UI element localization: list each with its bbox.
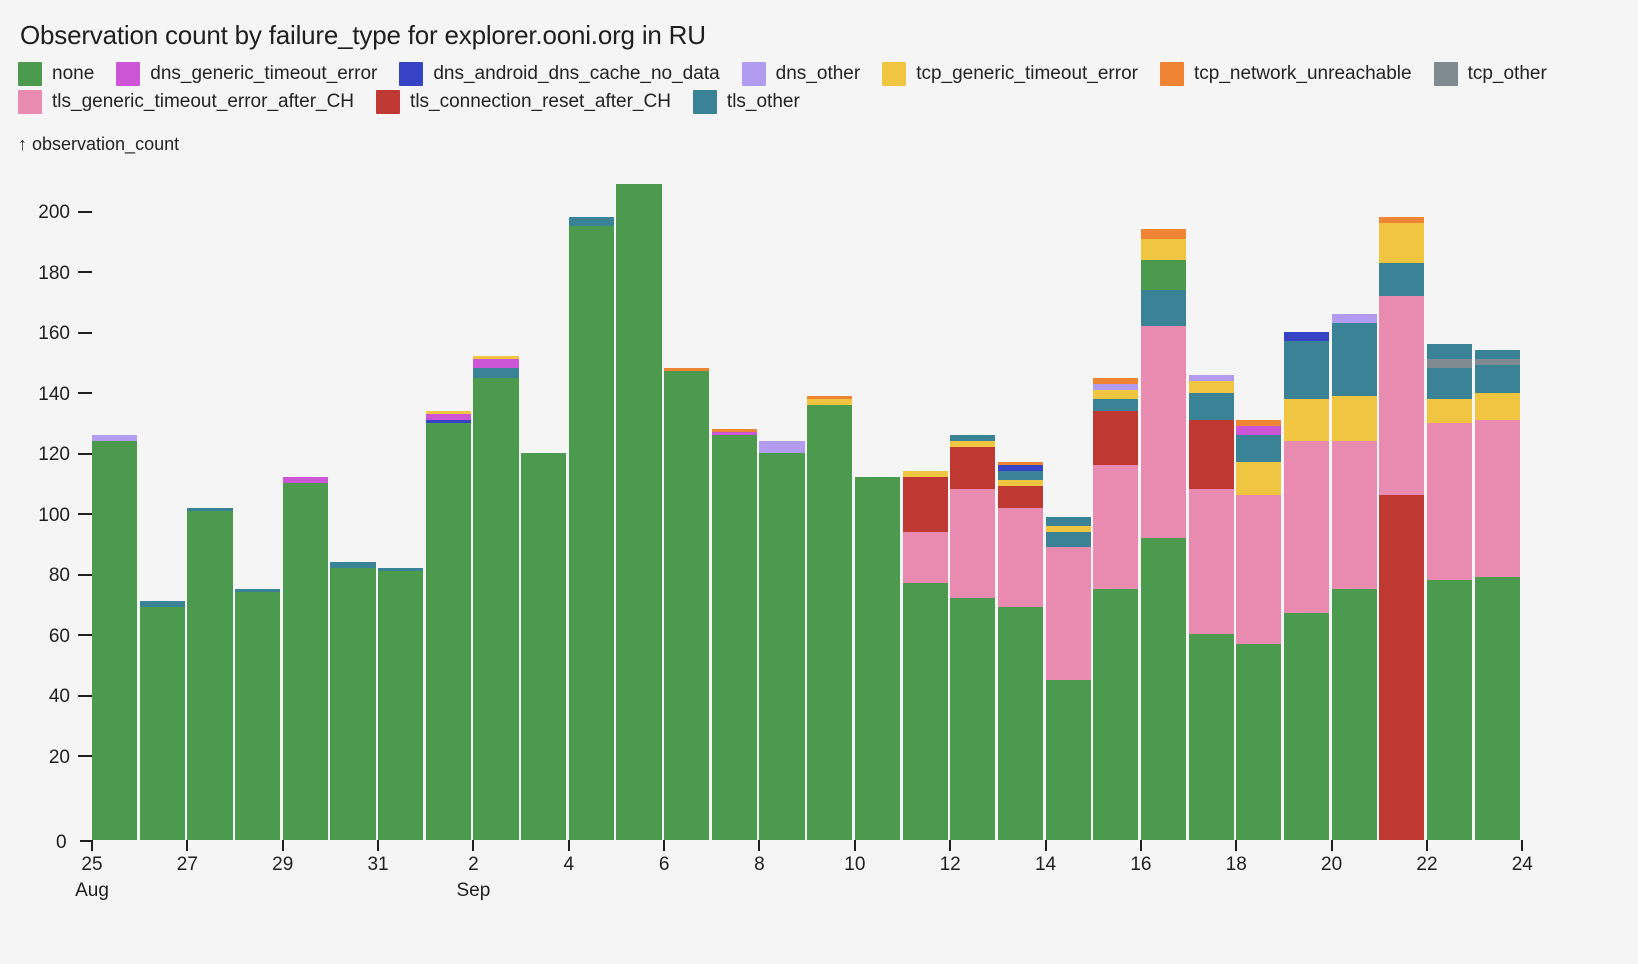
bar-segment-tls_other[interactable] [1332,356,1377,395]
bar-segment-tls_other[interactable] [1189,393,1234,420]
chart-legend: nonedns_generic_timeout_errordns_android… [18,60,1628,116]
bar-segment-tcp_generic_timeout_error[interactable] [1284,399,1329,441]
x-tick-label-24: 24 [1512,854,1533,876]
chart-root: Observation count by failure_type for ex… [0,0,1638,964]
bar-segment-tls_other[interactable] [1093,399,1138,411]
bar-segment-tls_generic_timeout_error_after_CH[interactable] [1093,465,1138,589]
y-tick-label: 80 [49,565,78,587]
bar-segment-none[interactable] [1332,589,1377,840]
legend-swatch-icon [882,62,906,86]
bar-sep-19[interactable] [1284,332,1329,840]
x-tick-month-Sep: Sep [457,880,491,902]
x-tick-mark [854,840,856,851]
y-tick-40: 40 [49,686,92,708]
y-tick-label: 40 [49,686,78,708]
legend-item-dns_generic_timeout_error[interactable]: dns_generic_timeout_error [116,60,377,88]
bar-aug-27[interactable] [187,508,232,840]
bar-sep-11[interactable] [903,471,948,840]
bar-segment-none[interactable] [1046,680,1091,840]
bar-segment-tcp_generic_timeout_error[interactable] [1093,390,1138,399]
y-tick-label: 60 [49,626,78,648]
bar-segment-tls_connection_reset_after_CH[interactable] [1093,411,1138,465]
bar-segment-tls_other_top[interactable] [1427,344,1472,359]
bar-segment-none[interactable] [1236,644,1281,840]
bar-segment-tls_other_top[interactable] [1046,517,1091,526]
x-tick-label-12: 12 [940,854,961,876]
legend-item-tls_connection_reset_after_CH[interactable]: tls_connection_reset_after_CH [376,88,671,116]
bar-segment-tls_generic_timeout_error_after_CH[interactable] [1332,441,1377,589]
bar-segment-tls_generic_timeout_error_after_CH[interactable] [903,532,948,583]
y-tick-mark [78,271,92,273]
x-tick-label-8: 8 [754,854,765,876]
y-tick-mark [78,211,92,213]
legend-item-tcp_network_unreachable[interactable]: tcp_network_unreachable [1160,60,1412,88]
y-tick-mark [78,574,92,576]
bar-segment-dns_generic_timeout_error[interactable] [1236,426,1281,435]
bar-aug-30[interactable] [330,562,375,840]
bar-sep-3[interactable] [521,453,566,840]
bar-sep-12[interactable] [950,435,995,840]
x-tick-label-16: 16 [1130,854,1151,876]
y-tick-80: 80 [49,565,92,587]
bar-sep-6[interactable] [664,368,709,840]
bar-segment-tls_generic_timeout_error_after_CH[interactable] [998,508,1043,608]
x-tick-label-4: 4 [563,854,574,876]
legend-item-dns_android_dns_cache_no_data[interactable]: dns_android_dns_cache_no_data [399,60,719,88]
bar-segment-none[interactable] [426,423,471,840]
legend-swatch-icon [18,62,42,86]
bar-segment-tls_generic_timeout_error_after_CH[interactable] [1475,420,1520,577]
bar-sep-9[interactable] [807,396,852,840]
legend-swatch-icon [399,62,423,86]
bar-segment-tls_other[interactable] [1236,435,1281,462]
x-tick-mark [1140,840,1142,851]
x-tick-label-14: 14 [1035,854,1056,876]
x-tick-label-25: 25 [81,854,102,876]
bar-segment-tls_generic_timeout_error_after_CH[interactable] [1141,326,1186,538]
y-tick-100: 100 [38,505,92,527]
y-tick-mark [78,453,92,455]
bar-segment-none[interactable] [712,435,757,840]
bar-segment-tls_other[interactable] [998,471,1043,480]
bar-segment-none[interactable] [283,483,328,840]
x-tick-mark [1331,840,1333,851]
x-tick-label-2: 2 [468,854,479,876]
bar-sep-20[interactable] [1332,314,1377,840]
y-tick-mark [78,634,92,636]
y-tick-200: 200 [38,202,92,224]
chart-title: Observation count by failure_type for ex… [20,20,706,51]
bar-segment-none[interactable] [616,184,661,840]
bar-sep-2[interactable] [473,356,518,840]
bar-segment-tls_other[interactable] [1046,532,1091,547]
bar-sep-22[interactable] [1427,344,1472,840]
bar-segment-none[interactable] [569,226,614,840]
bar-segment-tls_other[interactable] [1427,368,1472,398]
bar-segment-tcp_other[interactable] [1427,359,1472,368]
legend-item-tls_other[interactable]: tls_other [693,88,800,116]
bar-segment-tls_connection_reset_after_CH[interactable] [1189,420,1234,490]
bar-sep-5[interactable] [616,184,661,840]
bar-aug-25[interactable] [92,435,137,840]
y-tick-mark [78,513,92,515]
x-tick-label-18: 18 [1226,854,1247,876]
y-tick-label: 200 [38,202,78,224]
bar-segment-tcp_generic_timeout_error[interactable] [1427,399,1472,423]
y-tick-zero-label: 0 [56,832,67,854]
bar-segment-none[interactable] [664,371,709,840]
bar-segment-tls_other[interactable] [473,368,518,377]
y-tick-mark [78,695,92,697]
bar-segment-tcp_generic_timeout_error[interactable] [1475,393,1520,420]
bar-segment-tls_connection_reset_after_CH[interactable] [998,486,1043,507]
plot-area: 20406080100120140160180200 [92,175,1570,840]
bar-sep-23[interactable] [1475,350,1520,840]
bar-sep-1[interactable] [426,411,471,840]
y-tick-label: 160 [38,323,78,345]
x-axis: 25Aug2729312Sep4681012141618202224 [92,840,1570,841]
y-tick-label: 120 [38,444,78,466]
x-tick-label-31: 31 [367,854,388,876]
bar-segment-tls_other[interactable] [1475,365,1520,392]
y-tick-mark [78,755,92,757]
legend-swatch-icon [1434,62,1458,86]
y-tick-60: 60 [49,626,92,648]
bar-segment-tls_other[interactable] [1284,341,1329,398]
legend-item-tcp_other[interactable]: tcp_other [1434,60,1547,88]
y-tick-label: 140 [38,384,78,406]
x-tick-mark [91,840,93,851]
y-tick-zero-mark [80,840,91,842]
y-tick-180: 180 [38,263,92,285]
x-tick-month-Aug: Aug [75,880,109,902]
bar-segment-dns_generic_timeout_error[interactable] [473,359,518,368]
legend-label: tcp_generic_timeout_error [916,63,1138,85]
bar-segment-tls_other_top[interactable] [1332,323,1377,356]
legend-item-dns_other[interactable]: dns_other [742,60,861,88]
legend-item-tls_generic_timeout_error_after_CH[interactable]: tls_generic_timeout_error_after_CH [18,88,354,116]
bar-segment-tls_generic_timeout_error_after_CH[interactable] [1379,296,1424,496]
legend-label: tls_generic_timeout_error_after_CH [52,91,354,113]
x-tick-label-10: 10 [844,854,865,876]
bar-segment-none[interactable] [140,607,185,840]
legend-swatch-icon [742,62,766,86]
legend-label: tls_other [727,91,800,113]
legend-swatch-icon [116,62,140,86]
legend-swatch-icon [1160,62,1184,86]
bar-segment-tls_generic_timeout_error_after_CH[interactable] [950,489,995,598]
bar-aug-29[interactable] [283,477,328,840]
bar-segment-tls_other_top[interactable] [1475,350,1520,359]
legend-label: tcp_network_unreachable [1194,63,1412,85]
bar-segment-dns_other[interactable] [759,441,804,453]
bar-segment-none[interactable] [1475,577,1520,840]
bar-segment-tls_other[interactable] [1141,290,1186,326]
y-tick-mark [78,332,92,334]
x-tick-mark [949,840,951,851]
bar-segment-tls_generic_timeout_error_after_CH[interactable] [1236,495,1281,643]
bar-sep-15[interactable] [1093,378,1138,840]
y-tick-160: 160 [38,323,92,345]
legend-swatch-icon [376,90,400,114]
bar-segment-tcp_generic_timeout_error[interactable] [1332,396,1377,441]
x-tick-label-20: 20 [1321,854,1342,876]
bar-segment-tls_generic_timeout_error_after_CH[interactable] [1284,441,1329,613]
x-tick-label-22: 22 [1416,854,1437,876]
bar-sep-18[interactable] [1236,420,1281,840]
y-tick-label: 180 [38,263,78,285]
x-tick-mark [282,840,284,851]
legend-swatch-icon [693,90,717,114]
x-tick-label-29: 29 [272,854,293,876]
x-tick-label-27: 27 [177,854,198,876]
y-tick-140: 140 [38,384,92,406]
bar-segment-tcp_network_unreachable[interactable] [1141,229,1186,238]
bar-segment-none[interactable] [1189,634,1234,840]
legend-swatch-icon [18,90,42,114]
bar-sep-16[interactable] [1141,229,1186,840]
bar-segment-tls_generic_timeout_error_after_CH[interactable] [1189,489,1234,634]
legend-label: none [52,63,94,85]
bar-segment-dns_other[interactable] [1332,314,1377,323]
bar-segment-none[interactable] [378,571,423,840]
bar-sep-10[interactable] [855,477,900,840]
bar-segment-tcp_generic_timeout_error[interactable] [1236,462,1281,495]
bar-segment-none[interactable] [92,441,137,840]
y-tick-label: 20 [49,747,78,769]
bar-segment-dns_android_dns_cache_no_data[interactable] [1284,332,1329,341]
bar-segment-none[interactable] [187,511,232,840]
legend-label: dns_generic_timeout_error [150,63,377,85]
x-tick-mark [1521,840,1523,851]
y-tick-mark [78,392,92,394]
bar-segment-none[interactable] [855,477,900,840]
bar-segment-none[interactable] [473,378,518,840]
bar-segment-tls_other[interactable] [569,217,614,226]
bar-sep-21[interactable] [1379,217,1424,840]
bar-segment-tls_other_top[interactable] [1379,263,1424,296]
bar-segment-none[interactable] [235,592,280,840]
bar-segment-none[interactable] [903,583,948,840]
bar-segment-none[interactable] [998,607,1043,840]
bar-segment-none[interactable] [1427,580,1472,840]
y-tick-120: 120 [38,444,92,466]
bar-segment-none[interactable] [950,598,995,840]
x-tick-mark [472,840,474,851]
legend-item-tcp_generic_timeout_error[interactable]: tcp_generic_timeout_error [882,60,1138,88]
bar-segment-tcp_generic_timeout_error[interactable] [1379,223,1424,262]
bar-segment-tls_other_mid[interactable] [1141,260,1186,290]
bar-aug-31[interactable] [378,568,423,840]
legend-label: tls_connection_reset_after_CH [410,91,671,113]
bar-segment-none[interactable] [330,568,375,840]
bar-segment-none[interactable] [1093,589,1138,840]
bar-sep-8[interactable] [759,441,804,840]
y-axis-title: ↑ observation_count [18,134,179,155]
bar-sep-13[interactable] [998,462,1043,840]
legend-item-none[interactable]: none [18,60,94,88]
bar-segment-tls_connection_reset_after_CH[interactable] [903,477,948,531]
bar-segment-none[interactable] [521,453,566,840]
legend-label: tcp_other [1468,63,1547,85]
y-tick-20: 20 [49,747,92,769]
y-tick-label: 100 [38,505,78,527]
bar-segment-none[interactable] [1141,538,1186,840]
x-tick-mark [663,840,665,851]
bar-sep-17[interactable] [1189,375,1234,840]
x-tick-mark [758,840,760,851]
bar-aug-28[interactable] [235,589,280,840]
bar-segment-tcp_generic_timeout_error[interactable] [1189,381,1234,393]
x-tick-mark [1426,840,1428,851]
legend-label: dns_android_dns_cache_no_data [433,63,719,85]
bar-segment-tls_generic_timeout_error_after_CH[interactable] [1046,547,1091,680]
bar-sep-7[interactable] [712,429,757,840]
x-tick-mark [186,840,188,851]
bar-sep-4[interactable] [569,217,614,840]
bar-segment-tls_connection_reset_after_CH[interactable] [950,447,995,489]
bar-segment-tls_generic_timeout_error_after_CH[interactable] [1427,423,1472,580]
legend-label: dns_other [776,63,861,85]
bar-segment-none[interactable] [759,453,804,840]
x-tick-mark [568,840,570,851]
x-tick-mark [377,840,379,851]
x-tick-mark [1235,840,1237,851]
bar-segment-tls_connection_reset_after_CH[interactable] [1379,495,1424,840]
x-tick-mark [1045,840,1047,851]
bar-aug-26[interactable] [140,601,185,840]
x-tick-label-6: 6 [659,854,670,876]
bar-sep-14[interactable] [1046,517,1091,840]
bar-segment-none[interactable] [807,405,852,840]
bar-segment-none[interactable] [1284,613,1329,840]
bar-segment-tcp_generic_timeout_error[interactable] [1141,239,1186,260]
